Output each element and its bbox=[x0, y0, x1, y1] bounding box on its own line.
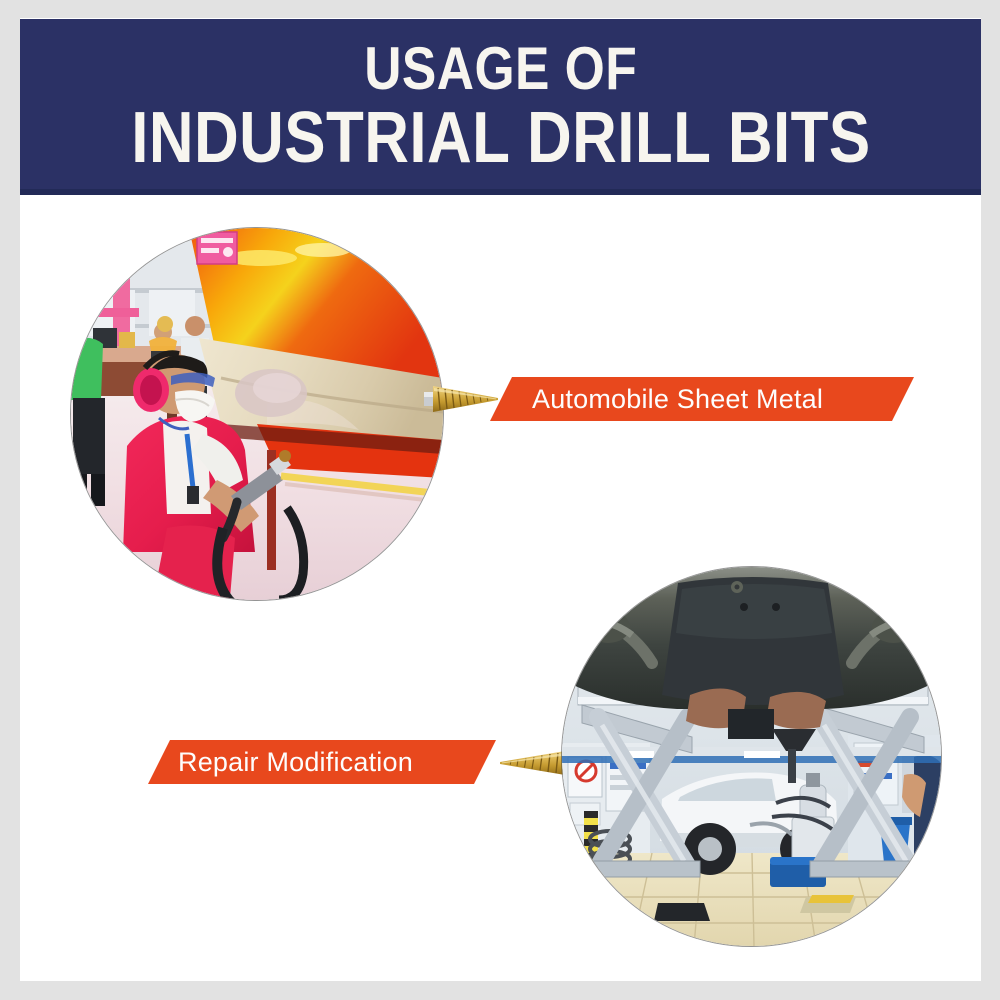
body-shop-illustration bbox=[71, 228, 443, 600]
lift-shop-illustration bbox=[562, 567, 941, 946]
callout-repair-modification[interactable]: Repair Modification bbox=[148, 740, 496, 784]
header-banner: USAGE OF INDUSTRIAL DRILL BITS bbox=[20, 19, 981, 195]
header-title-line-1: USAGE OF bbox=[364, 40, 637, 99]
photo-repair-modification bbox=[562, 567, 941, 946]
callout-label: Automobile Sheet Metal bbox=[532, 384, 823, 415]
header-title-line-2: INDUSTRIAL DRILL BITS bbox=[131, 103, 870, 174]
photo-automobile-sheet-metal bbox=[71, 228, 443, 600]
callout-label: Repair Modification bbox=[178, 747, 413, 778]
poster-root: USAGE OF INDUSTRIAL DRILL BITS bbox=[0, 0, 1000, 1000]
callout-automobile-sheet-metal[interactable]: Automobile Sheet Metal bbox=[490, 377, 914, 421]
